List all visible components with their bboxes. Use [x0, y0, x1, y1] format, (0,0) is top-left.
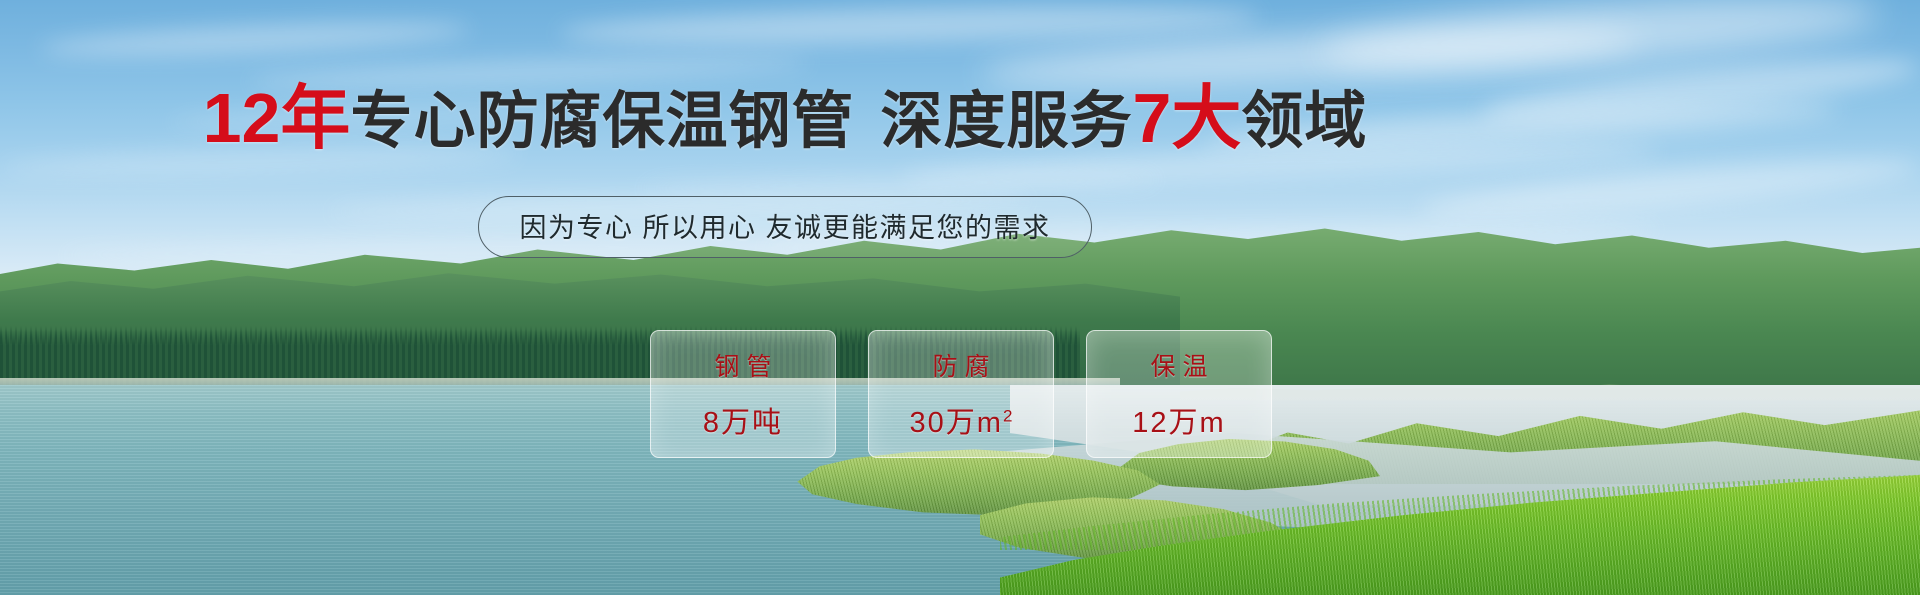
stat-value-text: 30万m: [910, 407, 1003, 439]
headline-segment-fields: 领域: [1241, 87, 1367, 156]
stat-value-text: 8万吨: [703, 407, 783, 439]
stat-value-text: 12万m: [1132, 407, 1225, 439]
stat-card-label: 防腐: [925, 347, 996, 383]
hero-banner: 12年专心防腐保温钢管深度服务7大领域 因为专心 所以用心 友诚更能满足您的需求…: [0, 0, 1920, 595]
stat-card-steel-pipe[interactable]: 钢管 8万吨: [650, 330, 836, 458]
stat-card-value: 12万m: [1132, 399, 1225, 441]
stat-card-value: 8万吨: [703, 399, 783, 441]
banner-content: 12年专心防腐保温钢管深度服务7大领域 因为专心 所以用心 友诚更能满足您的需求…: [0, 0, 1920, 595]
stat-card-anticorrosion[interactable]: 防腐 30万m2: [868, 330, 1054, 458]
stat-card-list: 钢管 8万吨 防腐 30万m2 保温 12万m: [650, 330, 1272, 458]
headline-segment-service: 深度服务: [880, 87, 1132, 156]
stat-card-label: 钢管: [707, 347, 778, 383]
subtitle-container: 因为专心 所以用心 友诚更能满足您的需求: [0, 196, 1570, 258]
stat-value-superscript: 2: [1003, 406, 1012, 425]
subtitle-pill: 因为专心 所以用心 友诚更能满足您的需求: [478, 196, 1091, 258]
headline-years-highlight: 12年: [203, 79, 351, 157]
stat-card-insulation[interactable]: 保温 12万m: [1086, 330, 1272, 458]
stat-card-value: 30万m2: [910, 399, 1013, 441]
stat-card-label: 保温: [1143, 347, 1214, 383]
headline-segment-product: 专心防腐保温钢管: [350, 87, 854, 156]
headline: 12年专心防腐保温钢管深度服务7大领域: [0, 82, 1570, 156]
headline-fields-highlight: 7大: [1132, 79, 1241, 157]
